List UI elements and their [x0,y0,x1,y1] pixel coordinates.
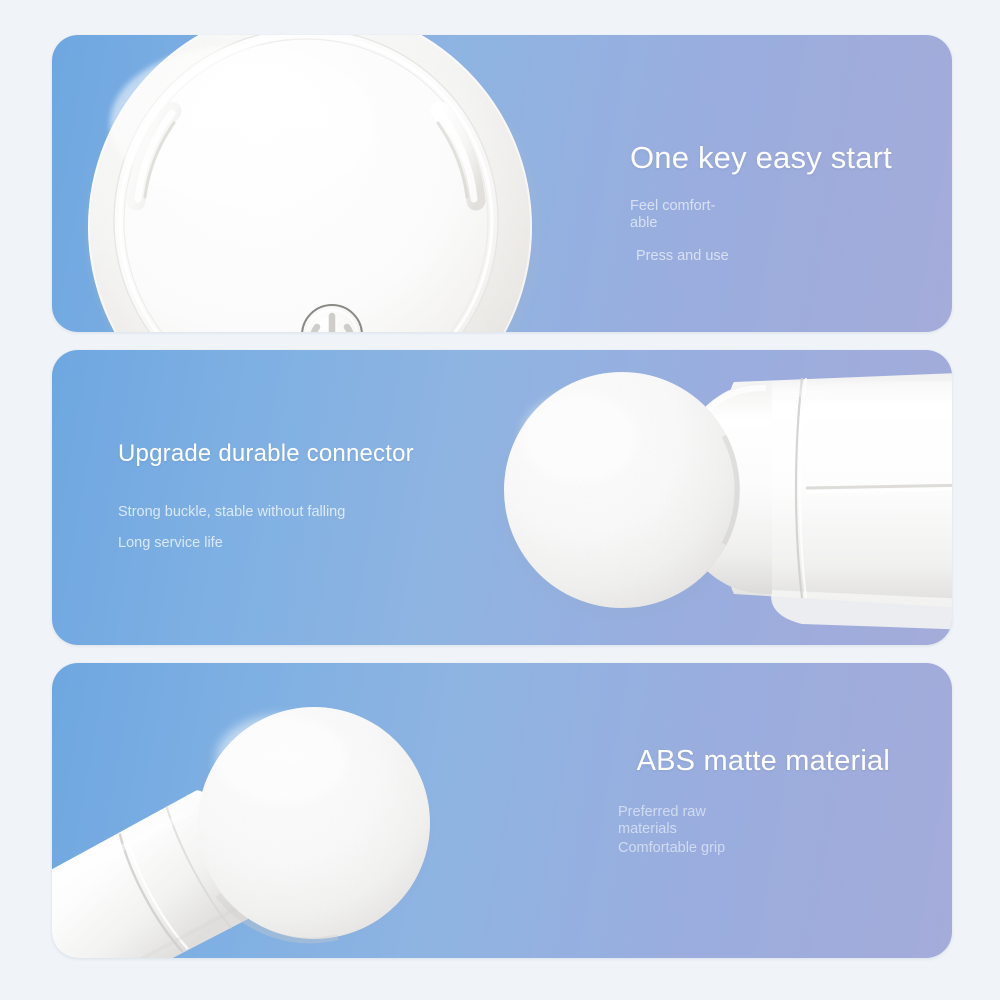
feature-panel-abs-matte-material: ABS matte material Preferred raw materia… [52,663,952,958]
panel-inner: Upgrade durable connector Strong buckle,… [52,350,952,645]
panel-headline: One key easy start [592,140,892,176]
feature-panel-one-key-easy-start: One key easy start Feel comfort-able Pre… [52,35,952,332]
panel-subtext-group: Preferred raw materials Comfortable grip [560,804,890,857]
panel-inner: One key easy start Feel comfort-able Pre… [52,35,952,332]
product-image-ball-head-connector [472,350,952,645]
panel-subtext-group: Feel comfort-able Press and use [592,198,892,265]
panel-headline: Upgrade durable connector [118,440,538,468]
panel-inner: ABS matte material Preferred raw materia… [52,663,952,958]
panel-text-block: Upgrade durable connector Strong buckle,… [118,440,538,552]
product-feature-board: One key easy start Feel comfort-able Pre… [0,0,1000,1000]
panel-subtext-line: Feel comfort-able [630,198,742,232]
panel-subtext-line: Preferred raw materials [618,804,726,838]
feature-panel-upgrade-durable-connector: Upgrade durable connector Strong buckle,… [52,350,952,645]
product-image-circular-base [52,35,634,332]
product-image-angled-device [52,663,542,958]
panel-headline: ABS matte material [560,745,890,778]
panel-subtext-line: Comfortable grip [618,840,726,857]
panel-subtext-line: Strong buckle, stable without falling [118,504,538,521]
panel-subtext-line: Long service life [118,535,538,552]
panel-subtext-line: Press and use [630,248,892,265]
panel-text-block: ABS matte material Preferred raw materia… [560,745,890,857]
panel-text-block: One key easy start Feel comfort-able Pre… [592,140,892,265]
panel-subtext-group: Strong buckle, stable without falling Lo… [118,504,538,552]
